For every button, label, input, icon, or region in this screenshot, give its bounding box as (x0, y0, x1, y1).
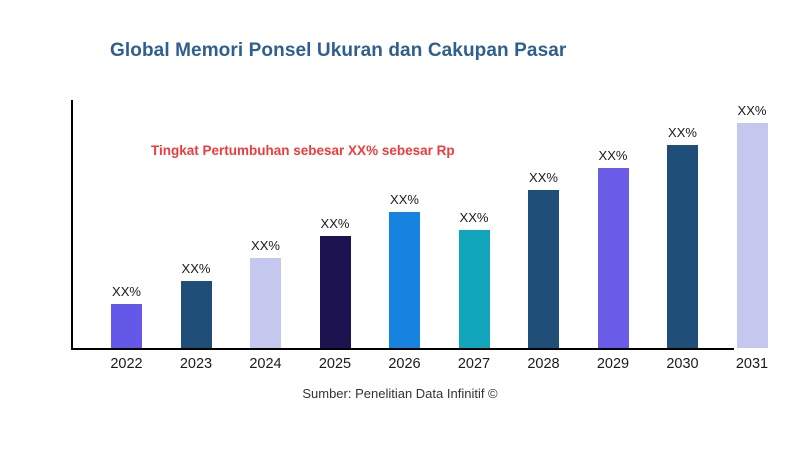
x-tick-2030: 2030 (653, 356, 713, 372)
x-tick-2025: 2025 (305, 356, 365, 372)
x-tick-2026: 2026 (375, 356, 435, 372)
bar-2031[interactable] (737, 123, 768, 348)
bar-2030[interactable] (667, 145, 698, 348)
bar-value-label: XX% (112, 284, 141, 299)
bar-value-label: XX% (460, 210, 489, 225)
bar-2022[interactable] (111, 304, 142, 348)
x-tick-2028: 2028 (514, 356, 574, 372)
bar-2024[interactable] (250, 258, 281, 348)
bar-chart-figure: Global Memori Ponsel Ukuran dan Cakupan … (0, 0, 800, 450)
chart-title: Global Memori Ponsel Ukuran dan Cakupan … (110, 40, 566, 62)
bar-2027[interactable] (459, 230, 490, 348)
x-tick-2024: 2024 (236, 356, 296, 372)
bar-2029[interactable] (598, 168, 629, 348)
x-tick-2031: 2031 (722, 356, 782, 372)
bar-value-label: XX% (251, 238, 280, 253)
bar-value-label: XX% (668, 125, 697, 140)
bar-value-label: XX% (390, 192, 419, 207)
x-tick-2029: 2029 (583, 356, 643, 372)
y-axis-label: JUTA USD (0, 132, 2, 195)
x-tick-2022: 2022 (97, 356, 157, 372)
bar-value-label: XX% (738, 103, 767, 118)
bar-value-label: XX% (182, 261, 211, 276)
bar-2023[interactable] (181, 281, 212, 348)
bar-value-label: XX% (321, 216, 350, 231)
bar-value-label: XX% (599, 148, 628, 163)
x-tick-2027: 2027 (444, 356, 504, 372)
x-tick-2023: 2023 (166, 356, 226, 372)
bar-2026[interactable] (389, 212, 420, 348)
bar-2025[interactable] (320, 236, 351, 348)
bars-layer: XX%XX%XX%XX%XX%XX%XX%XX%XX%XX% (71, 100, 800, 350)
x-axis-tick-labels: 2022202320242025202620272028202920302031 (71, 356, 800, 378)
bar-value-label: XX% (529, 170, 558, 185)
bar-2028[interactable] (528, 190, 559, 348)
source-caption: Sumber: Penelitian Data Infinitif © (0, 386, 800, 401)
